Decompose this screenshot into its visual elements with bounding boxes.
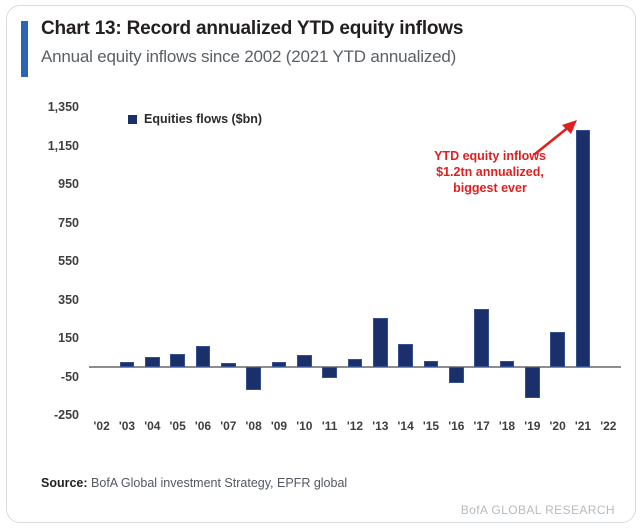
- bar: [424, 361, 439, 367]
- bar: [145, 357, 160, 367]
- y-axis-tick: -50: [21, 370, 79, 384]
- bar: [373, 318, 388, 367]
- bar: [196, 346, 211, 367]
- annotation-line-2: $1.2tn annualized,: [425, 164, 555, 180]
- bar: [525, 367, 540, 398]
- bar: [297, 355, 312, 367]
- watermark: BofA GLOBAL RESEARCH: [461, 503, 615, 517]
- chart-legend: Equities flows ($bn): [128, 112, 262, 126]
- annotation-text: YTD equity inflows $1.2tn annualized, bi…: [425, 148, 555, 196]
- y-axis-tick: 750: [21, 216, 79, 230]
- bar: [221, 363, 236, 367]
- source-note: Source: BofA Global investment Strategy,…: [41, 476, 347, 490]
- source-label: Source:: [41, 476, 88, 490]
- bar: [500, 361, 515, 367]
- y-axis-tick: 1,350: [21, 100, 79, 114]
- bar: [449, 367, 464, 383]
- y-axis-tick: 550: [21, 254, 79, 268]
- bar: [348, 359, 363, 367]
- y-axis-tick: -250: [21, 408, 79, 422]
- legend-label: Equities flows ($bn): [144, 112, 262, 126]
- bar: [322, 367, 337, 378]
- bar: [120, 362, 135, 367]
- bar: [272, 362, 287, 367]
- y-axis-tick: 1,150: [21, 139, 79, 153]
- bar: [170, 354, 185, 367]
- bar: [576, 130, 591, 367]
- source-text: BofA Global investment Strategy, EPFR gl…: [91, 476, 347, 490]
- y-axis-tick: 350: [21, 293, 79, 307]
- chart-card: Chart 13: Record annualized YTD equity i…: [6, 5, 636, 523]
- bar: [550, 332, 565, 367]
- bar: [398, 344, 413, 367]
- annotation-line-1: YTD equity inflows: [425, 148, 555, 164]
- legend-swatch-icon: [128, 115, 137, 124]
- bar: [246, 367, 261, 390]
- y-axis-tick: 950: [21, 177, 79, 191]
- annotation-line-3: biggest ever: [425, 180, 555, 196]
- x-axis-tick: '22: [593, 419, 623, 433]
- chart-plot-area: 1,3501,150950750550350150-50-250 '02'03'…: [7, 6, 636, 523]
- bar: [474, 309, 489, 367]
- y-axis-tick: 150: [21, 331, 79, 345]
